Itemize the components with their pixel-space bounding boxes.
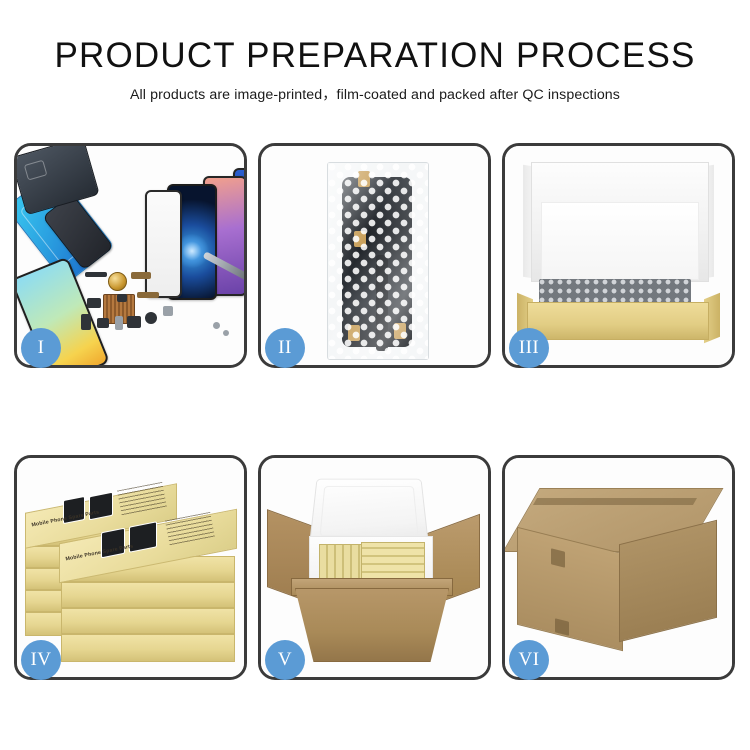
page-title: PRODUCT PREPARATION PROCESS <box>0 38 750 75</box>
small-part-graphic <box>85 272 107 277</box>
foam-sheet-graphic <box>541 202 699 280</box>
flex-cable-graphic <box>137 292 159 298</box>
screw-graphic <box>223 330 229 336</box>
carton-tape-graphic <box>551 548 565 567</box>
small-part-graphic <box>163 306 173 316</box>
carton-body-graphic <box>295 588 449 662</box>
kraft-box-front-graphic <box>527 302 709 340</box>
step-badge-6: VI <box>509 640 549 680</box>
step-panel-2[interactable]: II <box>258 143 491 368</box>
step-panel-5[interactable]: V <box>258 455 491 680</box>
camera-ring-graphic <box>108 272 127 291</box>
step-badge-3: III <box>509 328 549 368</box>
step-panel-3[interactable]: III <box>502 143 735 368</box>
page-header: PRODUCT PREPARATION PROCESS All products… <box>0 0 750 104</box>
small-part-graphic <box>97 318 109 328</box>
speaker-part-graphic <box>145 312 157 324</box>
carton-top-seam-graphic <box>533 498 697 505</box>
small-part-graphic <box>81 314 91 330</box>
step-badge-2: II <box>265 328 305 368</box>
box-stack-graphic: Mobile Phone Spare Parts Mobile Phone Sp… <box>25 472 239 668</box>
step-panel-4[interactable]: Mobile Phone Spare Parts Mobile Phone Sp… <box>14 455 247 680</box>
step-panel-1[interactable]: I <box>14 143 247 368</box>
step-panel-6[interactable]: VI <box>502 455 735 680</box>
step-badge-4: IV <box>21 640 61 680</box>
bubble-wrap-bag-graphic <box>327 162 429 360</box>
step-badge-5: V <box>265 640 305 680</box>
glass-protector-graphic <box>145 190 182 298</box>
stacked-box-graphic <box>61 582 235 608</box>
stacked-box-graphic <box>61 634 235 662</box>
page-subtitle: All products are image-printed，film-coat… <box>0 84 750 104</box>
step-badge-1: I <box>21 328 61 368</box>
flex-cable-graphic <box>131 272 151 279</box>
screw-graphic <box>213 322 220 329</box>
small-part-graphic <box>127 316 141 328</box>
process-steps-grid: I II <box>14 143 736 680</box>
stacked-box-graphic <box>61 608 235 634</box>
phone-housing-graphic <box>17 146 100 215</box>
small-part-graphic <box>117 294 127 302</box>
small-part-graphic <box>115 316 123 330</box>
small-part-graphic <box>87 298 101 308</box>
plastic-sheen-graphic <box>328 163 428 359</box>
